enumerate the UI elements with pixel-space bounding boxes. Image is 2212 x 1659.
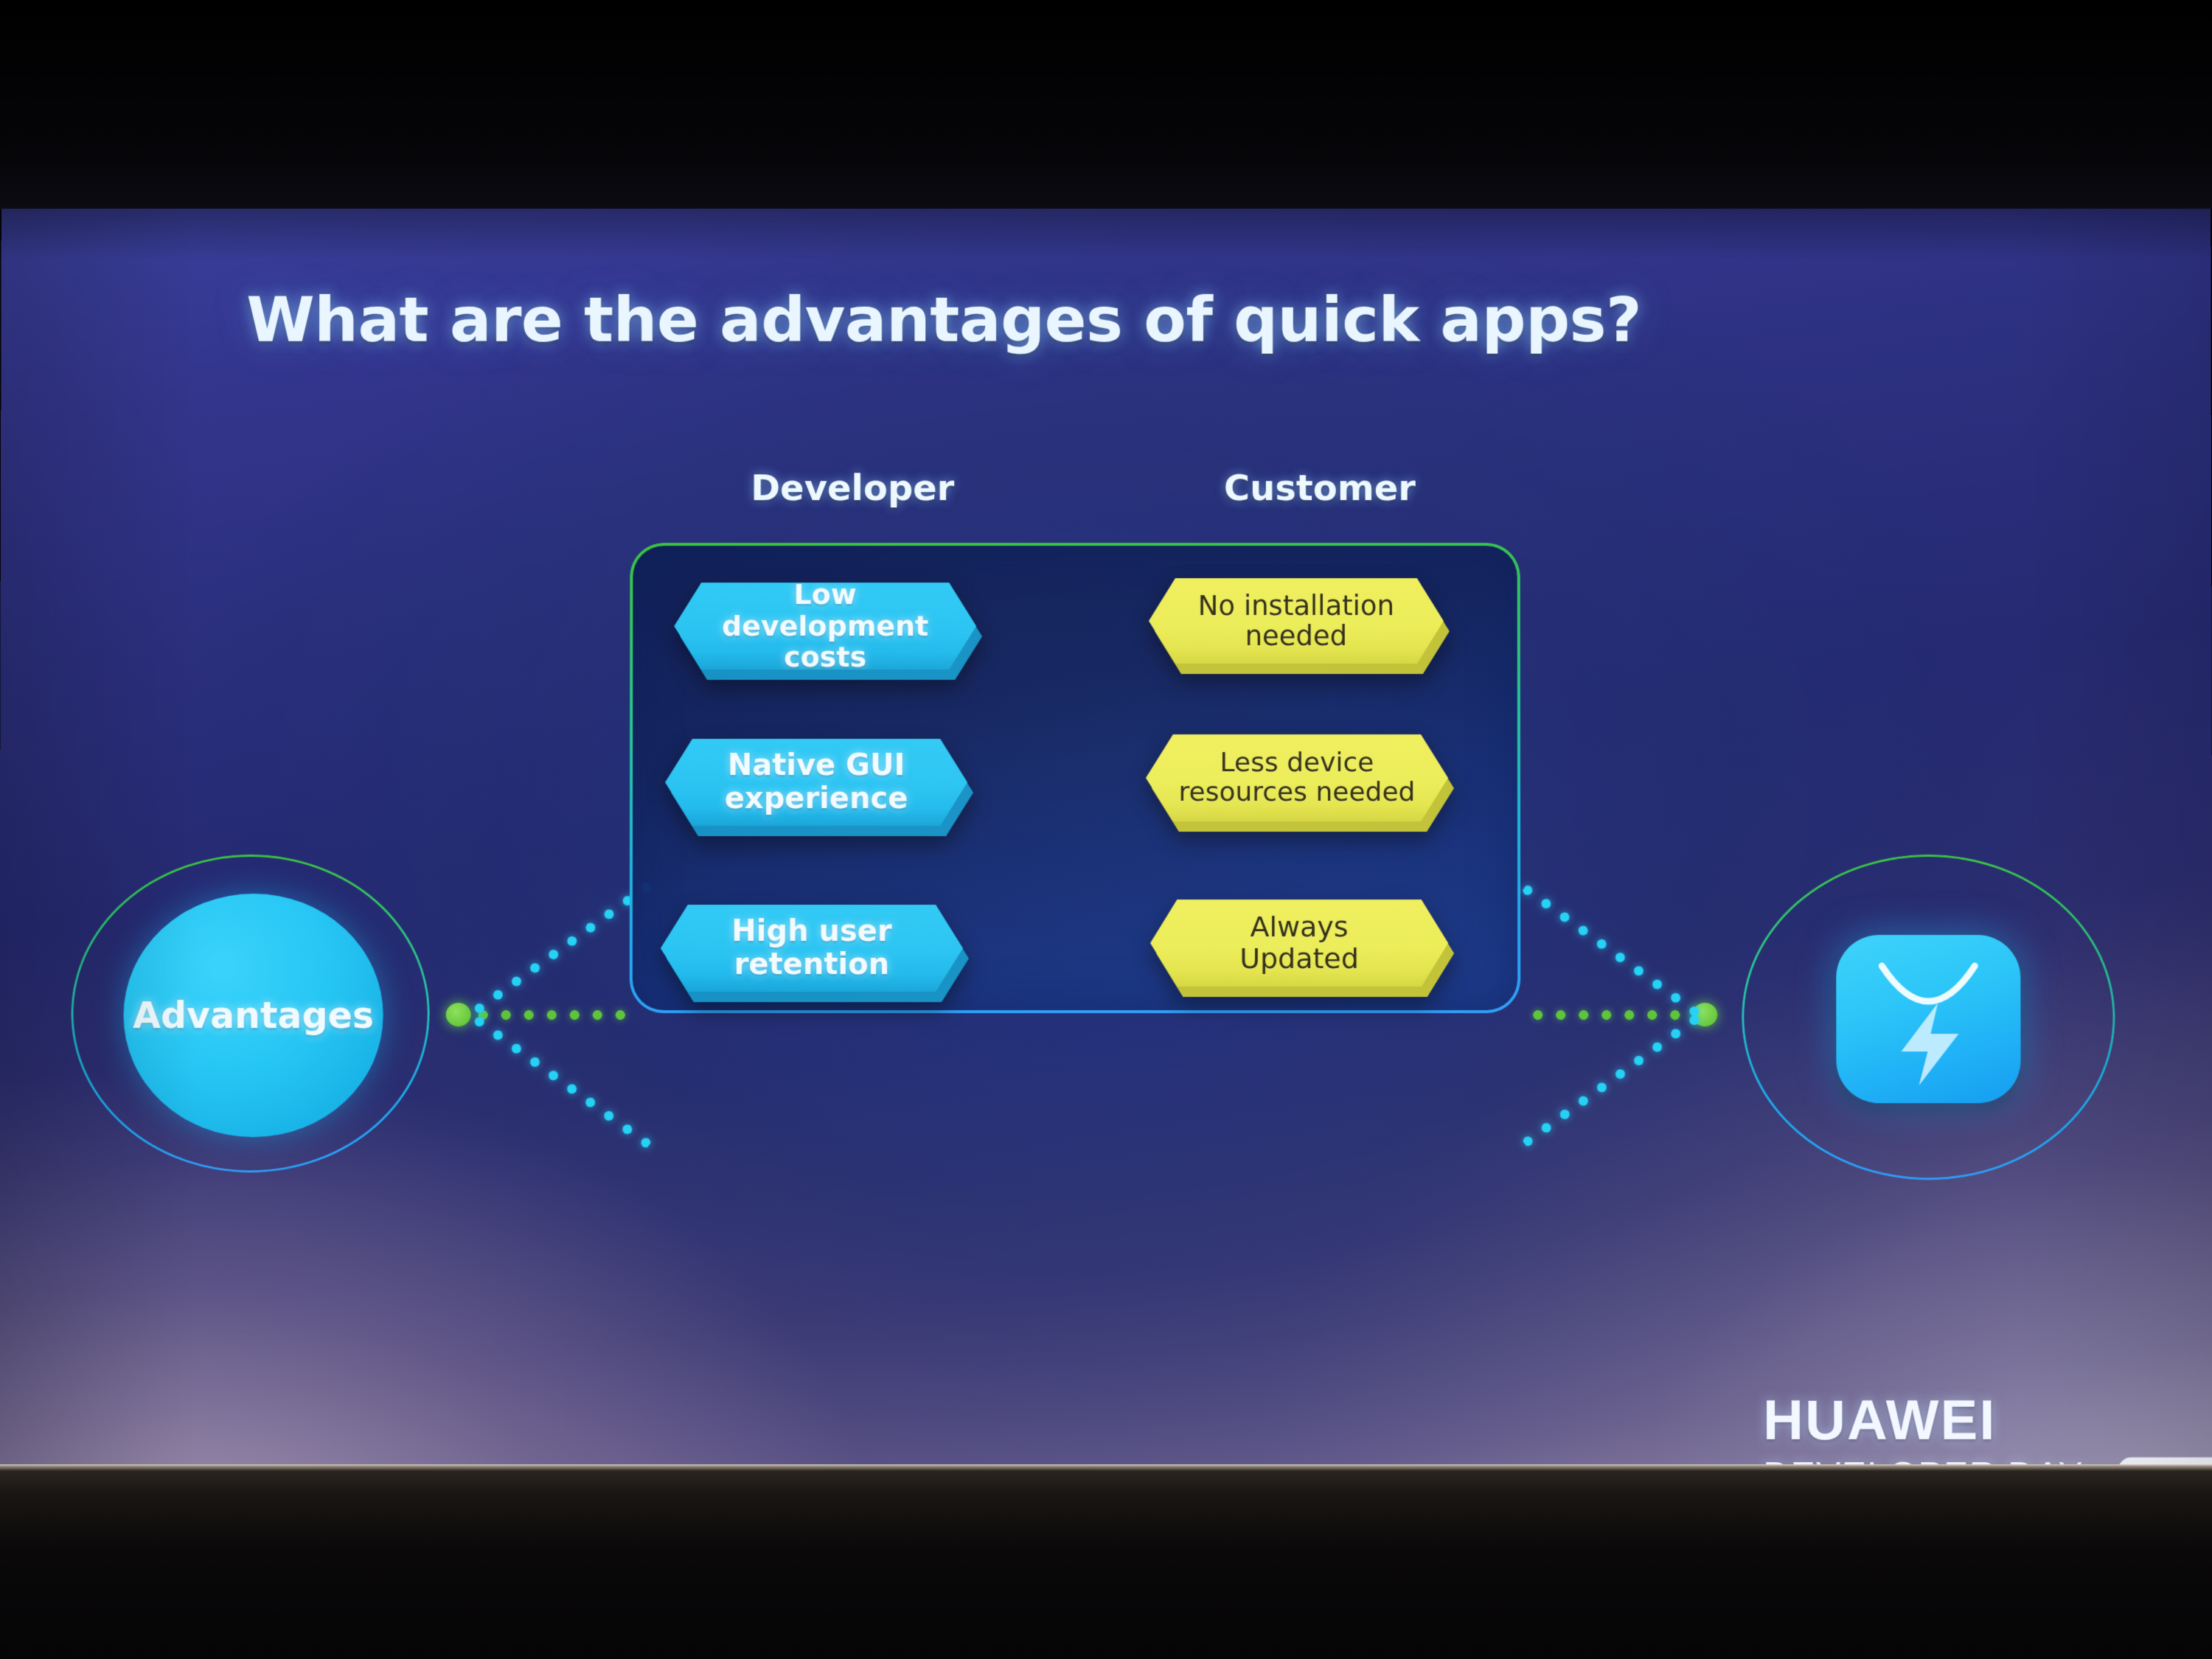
customer-benefit-3-label: Always Updated	[1150, 900, 1448, 987]
right-connector-line-lower	[1522, 1009, 1706, 1147]
projected-slide: What are the advantages of quick apps? D…	[0, 209, 2212, 1467]
right-connector-line-middle	[1526, 1010, 1694, 1020]
left-connector-line-upper	[467, 881, 653, 1019]
developer-benefit-3[interactable]: High user retention	[661, 905, 963, 992]
customer-benefit-1[interactable]: No installation needed	[1149, 578, 1444, 664]
benefits-panel: Low development costs Native GUI experie…	[633, 546, 1517, 1010]
right-connector-line-upper	[1522, 884, 1707, 1022]
left-connector-line-lower	[467, 1011, 652, 1149]
developer-benefit-2-label: Native GUI experience	[665, 739, 967, 826]
left-connector-node	[446, 1003, 471, 1026]
quick-app-glyph	[1836, 935, 2020, 1103]
customer-benefit-2-label: Less device resources needed	[1146, 734, 1448, 821]
customer-benefit-2[interactable]: Less device resources needed	[1146, 734, 1448, 821]
developer-benefit-1[interactable]: Low development costs	[674, 582, 976, 669]
developer-benefit-2[interactable]: Native GUI experience	[665, 739, 967, 826]
huawei-logo: HUAWEI DEVELOPER DAY	[1763, 1388, 2110, 1467]
developer-benefit-3-label: High user retention	[661, 905, 963, 992]
top-bezel	[0, 0, 2212, 209]
presentation-photo: What are the advantages of quick apps? D…	[0, 0, 2212, 1659]
column-header-customer: Customer	[1224, 467, 1416, 509]
advantages-label: Advantages	[133, 995, 374, 1037]
advantages-circle[interactable]: Advantages	[123, 894, 383, 1137]
bottom-bezel	[0, 1464, 2212, 1659]
customer-benefit-1-label: No installation needed	[1149, 578, 1444, 664]
slide-title: What are the advantages of quick apps?	[1, 284, 1887, 356]
column-header-developer: Developer	[751, 467, 954, 509]
huawei-wordmark: HUAWEI	[1763, 1388, 2110, 1453]
left-connector-line-middle	[472, 1010, 638, 1020]
customer-benefit-3[interactable]: Always Updated	[1150, 900, 1448, 987]
quick-app-icon[interactable]	[1836, 935, 2020, 1103]
developer-benefit-1-label: Low development costs	[674, 582, 976, 669]
